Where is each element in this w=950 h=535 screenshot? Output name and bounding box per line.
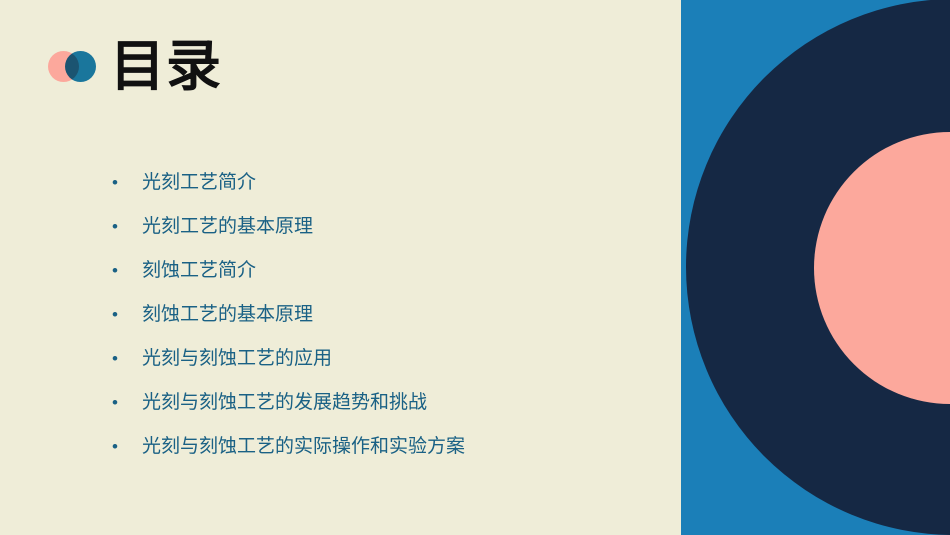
list-item[interactable]: • 光刻工艺的基本原理 [112, 204, 652, 248]
bullet-icon: • [112, 249, 142, 293]
bullet-icon: • [112, 293, 142, 337]
venn-overlap-icon [48, 50, 98, 82]
bullet-icon: • [112, 337, 142, 381]
list-item-label: 光刻工艺简介 [142, 160, 652, 204]
bullet-icon: • [112, 381, 142, 425]
bullet-icon: • [112, 205, 142, 249]
bullet-icon: • [112, 161, 142, 205]
venn-right-circle-icon [65, 51, 96, 82]
table-of-contents-list: • 光刻工艺简介 • 光刻工艺的基本原理 • 刻蚀工艺简介 • 刻蚀工艺的基本原… [112, 160, 652, 468]
list-item[interactable]: • 光刻与刻蚀工艺的应用 [112, 336, 652, 380]
list-item-label: 刻蚀工艺的基本原理 [142, 292, 652, 336]
list-item[interactable]: • 光刻与刻蚀工艺的实际操作和实验方案 [112, 424, 652, 468]
list-item[interactable]: • 刻蚀工艺简介 [112, 248, 652, 292]
page-title: 目录 [110, 39, 222, 94]
list-item-label: 光刻与刻蚀工艺的实际操作和实验方案 [142, 424, 652, 468]
list-item[interactable]: • 光刻与刻蚀工艺的发展趋势和挑战 [112, 380, 652, 424]
slide-header: 目录 [48, 33, 222, 99]
decorative-panel [681, 0, 950, 535]
list-item[interactable]: • 光刻工艺简介 [112, 160, 652, 204]
bullet-icon: • [112, 425, 142, 469]
list-item-label: 光刻工艺的基本原理 [142, 204, 652, 248]
list-item-label: 光刻与刻蚀工艺的发展趋势和挑战 [142, 380, 652, 424]
slide-canvas: 目录 • 光刻工艺简介 • 光刻工艺的基本原理 • 刻蚀工艺简介 • 刻蚀工艺的… [0, 0, 950, 535]
list-item[interactable]: • 刻蚀工艺的基本原理 [112, 292, 652, 336]
list-item-label: 刻蚀工艺简介 [142, 248, 652, 292]
list-item-label: 光刻与刻蚀工艺的应用 [142, 336, 652, 380]
